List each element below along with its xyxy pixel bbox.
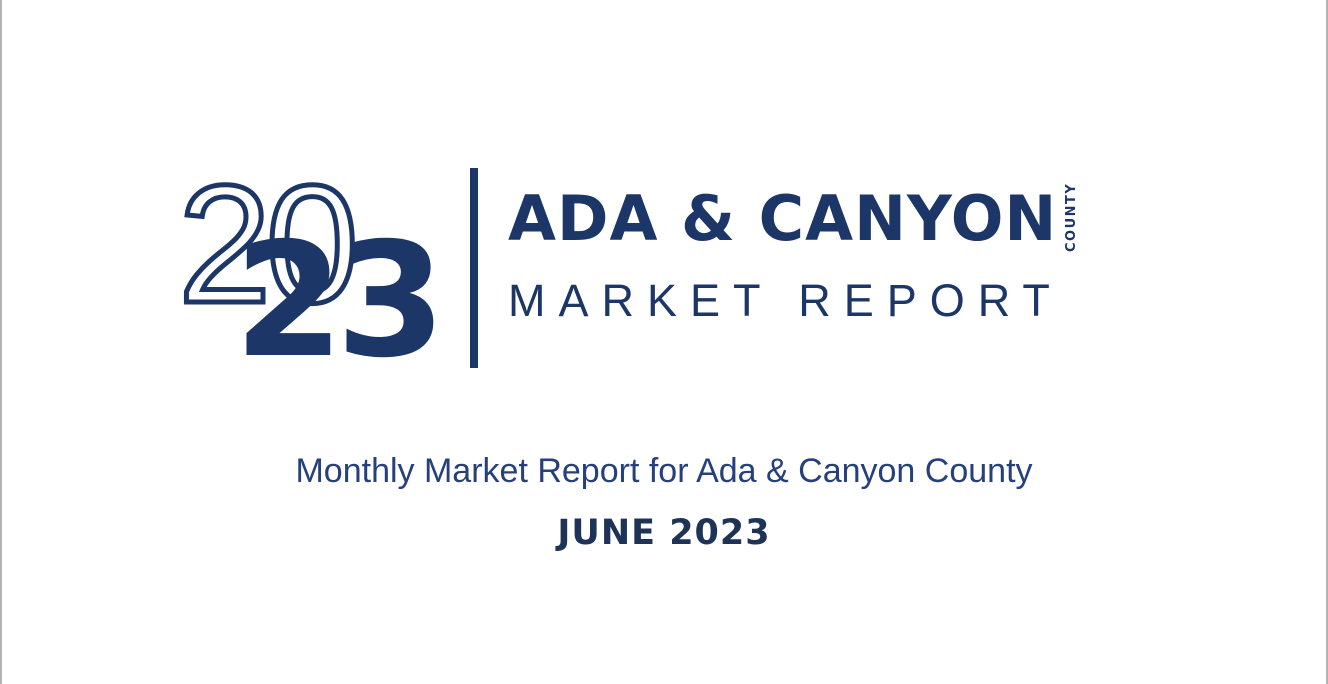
wordmark-primary-text: ADA & CANYON: [508, 188, 1057, 250]
wordmark-county-superscript: COUNTY: [1064, 190, 1079, 252]
report-masthead: 20 23 ADA & CANYON COUNTY MARKET REPORT: [178, 160, 1168, 375]
report-subtitle: Monthly Market Report for Ada & Canyon C…: [2, 452, 1326, 491]
report-date: JUNE 2023: [2, 513, 1326, 553]
report-cover-page: 20 23 ADA & CANYON COUNTY MARKET REPORT …: [0, 0, 1328, 684]
year-logo-mark: 20 23: [178, 160, 458, 372]
year-solid-text: 23: [234, 222, 438, 380]
wordmark-primary-row: ADA & CANYON COUNTY: [508, 188, 1168, 252]
cover-caption-block: Monthly Market Report for Ada & Canyon C…: [2, 452, 1326, 553]
logo-divider-rule: [470, 168, 478, 368]
wordmark-secondary-text: MARKET REPORT: [508, 278, 1168, 323]
brand-wordmark: ADA & CANYON COUNTY MARKET REPORT: [508, 188, 1168, 323]
